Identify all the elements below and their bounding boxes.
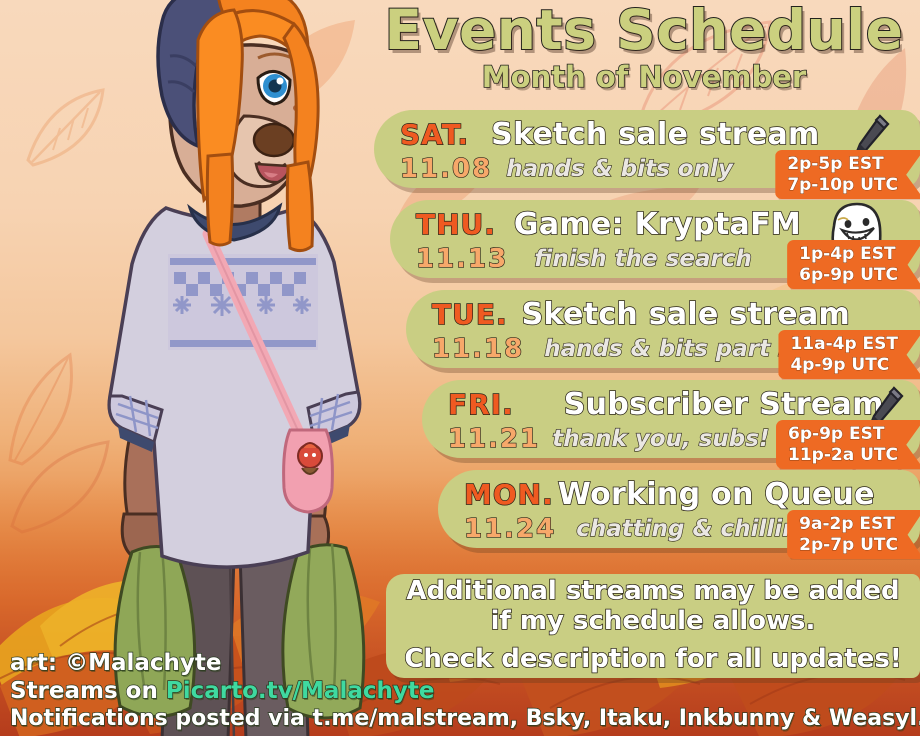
notice-line-2: if my schedule allows. — [491, 607, 816, 637]
events-list: SAT. Sketch sale stream 11.08 hands & bi… — [368, 106, 920, 556]
event-subtitle: hands & bits part 2 — [544, 336, 794, 362]
event-day: FRI. — [448, 388, 514, 421]
page-subtitle: Month of November — [368, 60, 920, 94]
event-row[interactable]: FRI. Subscriber Stream 11.21 thank you, … — [368, 376, 920, 466]
event-row[interactable]: TUE. Sketch sale stream 11.18 hands & bi… — [368, 286, 920, 376]
event-time-ribbon: 6p-9p EST 11p-2a UTC — [776, 420, 920, 469]
event-date: 11.08 — [400, 154, 492, 184]
event-date: 11.13 — [416, 244, 508, 274]
time-utc: 2p-7p UTC — [799, 535, 898, 556]
picarto-link[interactable]: Picarto.tv/Malachyte — [166, 678, 435, 704]
schedule-column: Events Schedule Month of November SAT. S… — [368, 0, 920, 736]
time-est: 2p-5p EST — [787, 154, 898, 175]
notice-line-1: Additional streams may be added — [406, 577, 899, 607]
event-date: 11.24 — [464, 514, 556, 544]
time-est: 11a-4p EST — [790, 334, 898, 355]
time-utc: 6p-9p UTC — [799, 265, 898, 286]
event-row[interactable]: MON. Working on Queue 11.24 chatting & c… — [368, 466, 920, 556]
header: Events Schedule Month of November — [368, 2, 920, 94]
event-day: TUE. — [432, 298, 508, 331]
character-illustration — [58, 0, 408, 736]
time-utc: 7p-10p UTC — [787, 175, 898, 196]
time-utc: 4p-9p UTC — [790, 355, 898, 376]
event-time-ribbon: 1p-4p EST 6p-9p UTC — [787, 240, 920, 289]
page-title: Events Schedule — [368, 2, 920, 58]
event-title: Sketch sale stream — [491, 117, 819, 152]
event-day: SAT. — [400, 118, 469, 151]
notifications-line: Notifications posted via t.me/malstream,… — [10, 706, 915, 732]
event-title: Sketch sale stream — [522, 297, 850, 332]
event-time-ribbon: 9a-2p EST 2p-7p UTC — [787, 510, 920, 559]
event-time-ribbon: 11a-4p EST 4p-9p UTC — [778, 330, 920, 379]
event-title: Subscriber Stream — [564, 387, 884, 422]
footer-credits: art: ©Malachyte Streams on Picarto.tv/Ma… — [10, 650, 915, 732]
event-subtitle: thank you, subs! — [552, 426, 769, 452]
event-subtitle: finish the search — [534, 246, 752, 272]
time-est: 6p-9p EST — [788, 424, 898, 445]
time-est: 1p-4p EST — [799, 244, 898, 265]
event-title: Game: KryptaFM — [514, 207, 801, 242]
event-row[interactable]: SAT. Sketch sale stream 11.08 hands & bi… — [368, 106, 920, 196]
event-title: Working on Queue — [558, 477, 875, 512]
event-subtitle: hands & bits only — [506, 156, 733, 182]
streams-prefix: Streams on — [10, 678, 166, 704]
event-row[interactable]: THU. Game: KryptaFM 11.13 finish the sea… — [368, 196, 920, 286]
event-date: 11.21 — [448, 424, 540, 454]
schedule-poster: Events Schedule Month of November SAT. S… — [0, 0, 920, 736]
art-credit: art: ©Malachyte — [10, 650, 915, 678]
time-utc: 11p-2a UTC — [788, 445, 898, 466]
event-time-ribbon: 2p-5p EST 7p-10p UTC — [775, 150, 920, 199]
time-est: 9a-2p EST — [799, 514, 898, 535]
event-date: 11.18 — [432, 334, 524, 364]
streams-line: Streams on Picarto.tv/Malachyte — [10, 678, 915, 706]
event-day: THU. — [416, 208, 496, 241]
event-subtitle: chatting & chilling — [576, 516, 815, 542]
event-day: MON. — [464, 478, 554, 511]
